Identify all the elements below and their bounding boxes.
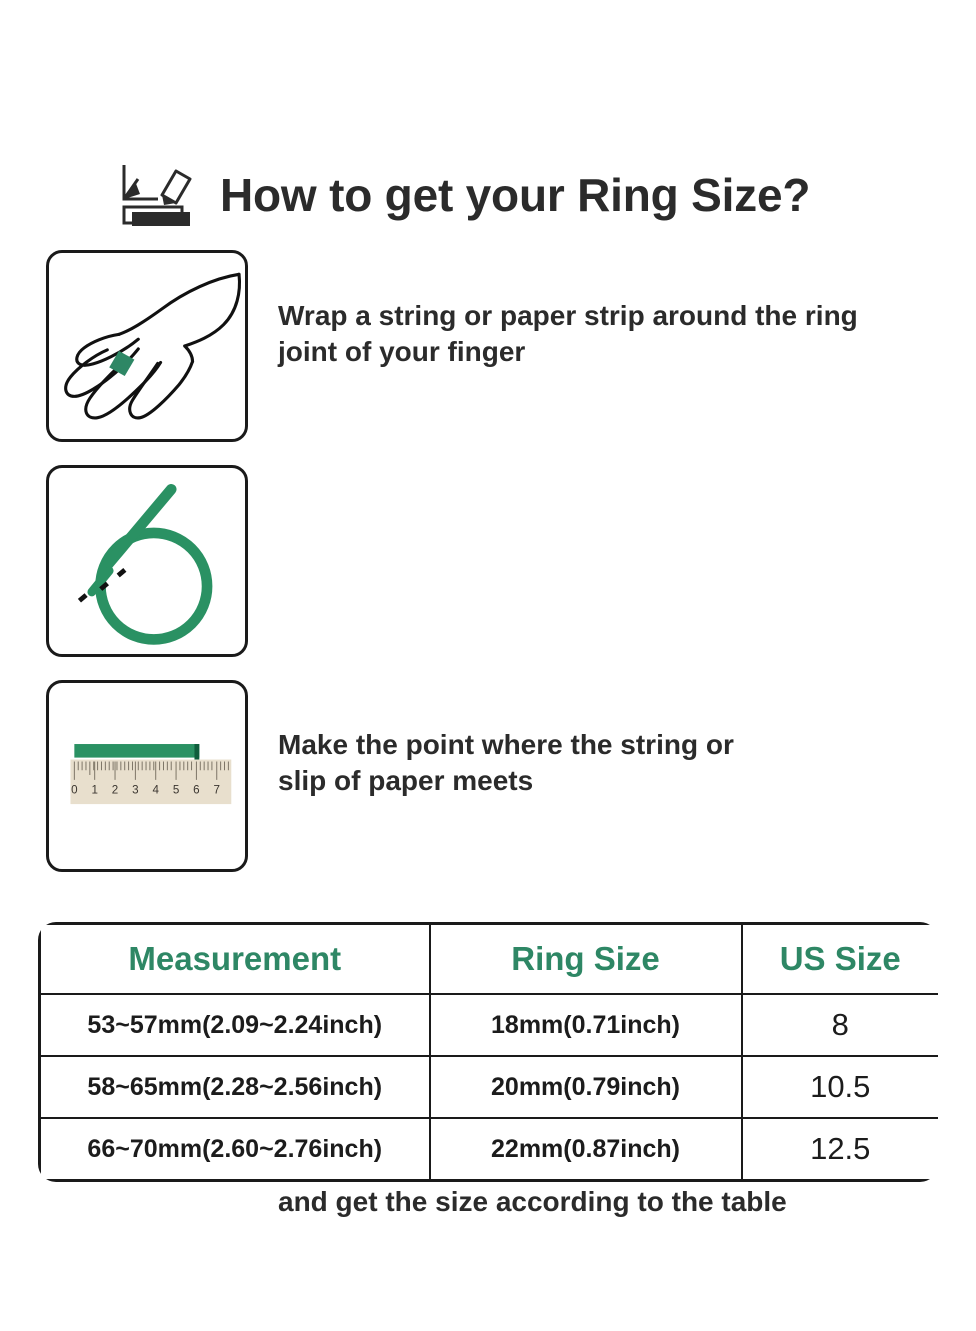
table-row: 58~65mm(2.28~2.56inch) 20mm(0.79inch) 10… — [40, 1056, 939, 1118]
step-text-1: Wrap a string or paper strip around the … — [278, 298, 968, 370]
ruler-tick-4: 4 — [152, 783, 159, 796]
ruler-tick-6: 6 — [193, 783, 199, 796]
cell-ring-size: 20mm(0.79inch) — [430, 1056, 742, 1118]
table-row: 53~57mm(2.09~2.24inch) 18mm(0.71inch) 8 — [40, 994, 939, 1056]
table-row: 66~70mm(2.60~2.76inch) 22mm(0.87inch) 12… — [40, 1118, 939, 1181]
size-table-container: Measurement Ring Size US Size 53~57mm(2.… — [38, 922, 938, 1182]
column-header-us-size: US Size — [742, 924, 939, 995]
looped-strip-icon — [46, 465, 248, 657]
ruler-tick-0: 0 — [71, 783, 77, 796]
step-row-1: Wrap a string or paper strip around the … — [0, 250, 976, 465]
cell-measurement: 66~70mm(2.60~2.76inch) — [40, 1118, 430, 1181]
cell-ring-size: 18mm(0.71inch) — [430, 994, 742, 1056]
cell-us-size: 8 — [742, 994, 939, 1056]
ruler-measuring-strip-icon: 0 1 2 3 4 5 6 7 — [46, 680, 248, 872]
cell-measurement: 53~57mm(2.09~2.24inch) — [40, 994, 430, 1056]
pencil-measure-icon — [118, 161, 196, 229]
cell-ring-size: 22mm(0.87inch) — [430, 1118, 742, 1181]
ruler-tick-5: 5 — [173, 783, 179, 796]
hand-with-ring-icon — [46, 250, 248, 442]
size-table-body: 53~57mm(2.09~2.24inch) 18mm(0.71inch) 8 … — [40, 994, 939, 1181]
page-title: How to get your Ring Size? — [220, 172, 810, 218]
cell-measurement: 58~65mm(2.28~2.56inch) — [40, 1056, 430, 1118]
ring-size-table: Measurement Ring Size US Size 53~57mm(2.… — [38, 922, 938, 1182]
step-row-2: Make the point where the string or slip … — [0, 465, 976, 680]
page-header: How to get your Ring Size? — [0, 155, 976, 235]
step-row-3: 0 1 2 3 4 5 6 7 Measure the length of ro… — [0, 680, 976, 895]
size-table-header: Measurement Ring Size US Size — [40, 924, 939, 995]
table-header-row: Measurement Ring Size US Size — [40, 924, 939, 995]
column-header-measurement: Measurement — [40, 924, 430, 995]
ruler-tick-3: 3 — [132, 783, 138, 796]
column-header-ring-size: Ring Size — [430, 924, 742, 995]
cell-us-size: 12.5 — [742, 1118, 939, 1181]
cell-us-size: 10.5 — [742, 1056, 939, 1118]
steps-list: Wrap a string or paper strip around the … — [0, 250, 976, 895]
ruler-tick-1: 1 — [91, 783, 97, 796]
step-text-3-line2: and get the size according to the table — [278, 1184, 968, 1220]
ruler-tick-2: 2 — [112, 783, 118, 796]
ruler-tick-7: 7 — [214, 783, 220, 796]
step-text-1-line1: Wrap a string or paper strip around the … — [278, 298, 968, 334]
step-text-1-line2: joint of your finger — [278, 334, 968, 370]
